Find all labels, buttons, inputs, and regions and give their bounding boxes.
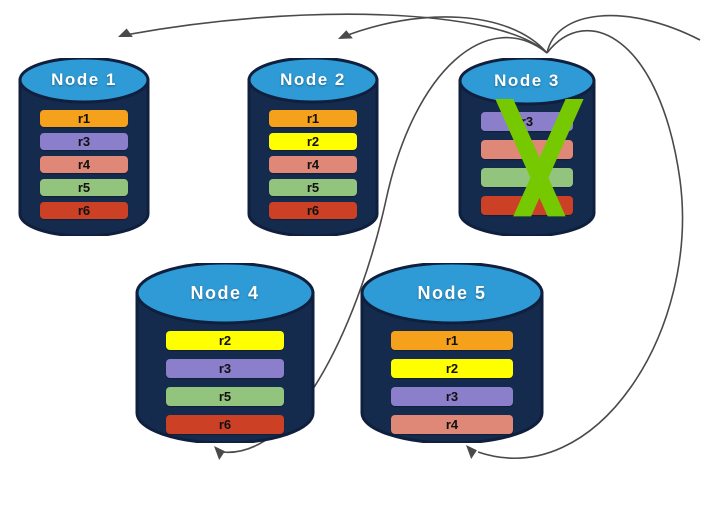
node-1-record-r3: r3 <box>40 133 128 150</box>
node-2-label: Node 2 <box>247 70 379 90</box>
node-5[interactable]: Node 5r1r2r3r4 <box>360 263 544 443</box>
node-3[interactable]: Node 3r3 <box>458 58 596 236</box>
node-1-record-r6: r6 <box>40 202 128 219</box>
node-3-records: r3 <box>458 112 596 215</box>
diagram-canvas: Node 1r1r3r4r5r6Node 2r1r2r4r5r6Node 3r3… <box>0 0 708 508</box>
node-5-label: Node 5 <box>360 283 544 304</box>
node-4-record-r5: r5 <box>166 387 284 406</box>
arrow-node3-to-node4-head <box>210 443 227 460</box>
arrow-node3-loop <box>547 16 700 53</box>
node-1-record-r4: r4 <box>40 156 128 173</box>
arrow-node3-to-node1-head <box>116 28 133 42</box>
node-5-record-r2: r2 <box>391 359 513 378</box>
node-2-records: r1r2r4r5r6 <box>247 110 379 219</box>
node-5-record-r3: r3 <box>391 387 513 406</box>
node-2[interactable]: Node 2r1r2r4r5r6 <box>247 58 379 236</box>
node-3-record-r3: r3 <box>481 112 573 131</box>
node-4-record-r3: r3 <box>166 359 284 378</box>
node-5-records: r1r2r3r4 <box>360 331 544 434</box>
node-4-label: Node 4 <box>135 283 315 304</box>
node-3-record-4 <box>481 196 573 215</box>
node-1-record-r5: r5 <box>40 179 128 196</box>
arrow-node3-to-node2 <box>340 17 547 53</box>
arrow-node3-to-node2-head <box>336 29 353 44</box>
node-4[interactable]: Node 4r2r3r5r6 <box>135 263 315 443</box>
arrow-node3-to-node1 <box>120 14 547 53</box>
node-2-record-r1: r1 <box>269 110 357 127</box>
node-2-record-r2: r2 <box>269 133 357 150</box>
node-5-record-r1: r1 <box>391 331 513 350</box>
node-1-record-r1: r1 <box>40 110 128 127</box>
node-2-record-r6: r6 <box>269 202 357 219</box>
node-1[interactable]: Node 1r1r3r4r5r6 <box>18 58 150 236</box>
node-2-record-r5: r5 <box>269 179 357 196</box>
node-4-records: r2r3r5r6 <box>135 331 315 434</box>
node-4-record-r2: r2 <box>166 331 284 350</box>
node-3-record-2 <box>481 140 573 159</box>
node-3-label: Node 3 <box>458 71 596 91</box>
node-4-record-r6: r6 <box>166 415 284 434</box>
arrow-node3-to-node5-head <box>462 442 479 459</box>
node-1-label: Node 1 <box>18 70 150 90</box>
node-1-records: r1r3r4r5r6 <box>18 110 150 219</box>
node-2-record-r4: r4 <box>269 156 357 173</box>
node-3-record-3 <box>481 168 573 187</box>
node-5-record-r4: r4 <box>391 415 513 434</box>
